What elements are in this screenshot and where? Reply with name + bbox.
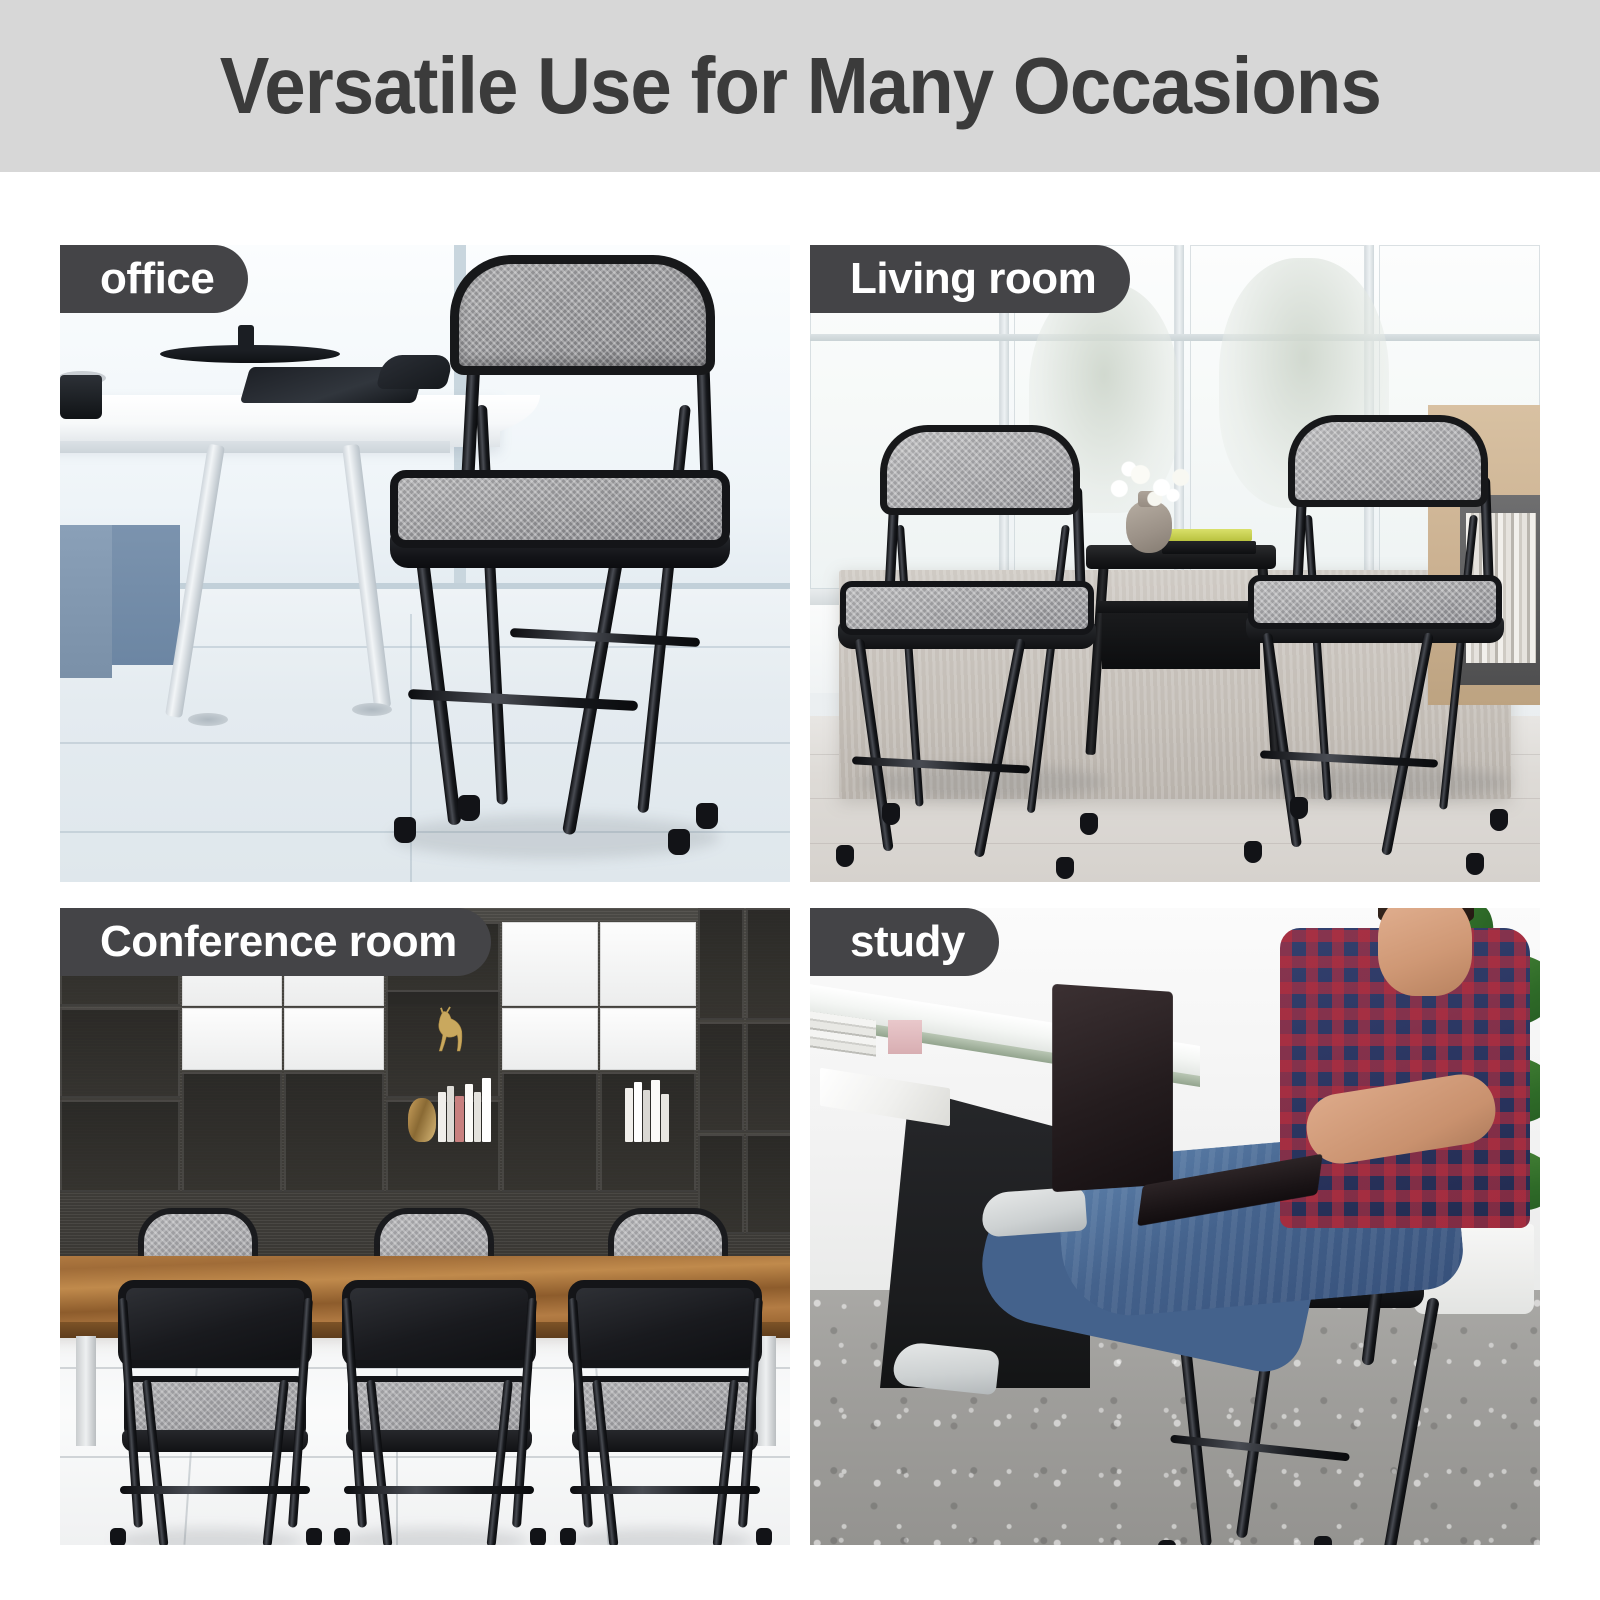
folding-chair-living-left [830, 425, 1110, 845]
side-table-box [1102, 613, 1260, 669]
folding-chair-office [380, 255, 750, 855]
chair-seat [390, 470, 730, 548]
badge-conference-room-label: Conference room [100, 917, 457, 967]
badge-study-label: study [850, 917, 965, 967]
badge-living-room-label: Living room [850, 254, 1096, 304]
scene-panel-conference-room: Conference room [60, 908, 790, 1545]
conference-chair-front-3 [558, 1280, 772, 1545]
white-flowers [1102, 455, 1198, 511]
desk-foot-left [188, 713, 228, 726]
badge-living-room: Living room [810, 245, 1130, 313]
scene-grid: office [60, 245, 1540, 1541]
deer-figurine-icon [432, 1006, 468, 1060]
product-feature-image: Versatile Use for Many Occasions [0, 0, 1600, 1600]
desk-cup [60, 375, 102, 419]
header-band: Versatile Use for Many Occasions [0, 0, 1600, 172]
badge-office-label: office [100, 254, 214, 304]
conference-chair-front-2 [332, 1280, 546, 1545]
office-partition-edge [60, 525, 112, 678]
conference-chair-front-1 [108, 1280, 322, 1545]
page-title: Versatile Use for Many Occasions [219, 46, 1380, 126]
badge-conference-room: Conference room [60, 908, 491, 976]
seated-person [1110, 908, 1540, 1545]
badge-study: study [810, 908, 999, 976]
folding-chair-living-right [1238, 415, 1518, 845]
study-desk-object [888, 1020, 922, 1054]
badge-office: office [60, 245, 248, 313]
person-shoe-upper [981, 1186, 1088, 1237]
amber-vase [408, 1098, 436, 1142]
scene-panel-study: study [810, 908, 1540, 1545]
scene-panel-living-room: Living room [810, 245, 1540, 882]
scene-panel-office: office [60, 245, 790, 882]
laptop-screen [1052, 984, 1173, 1192]
person-head [1378, 908, 1472, 996]
chair-backrest [450, 255, 715, 375]
monitor-neck [238, 325, 254, 351]
